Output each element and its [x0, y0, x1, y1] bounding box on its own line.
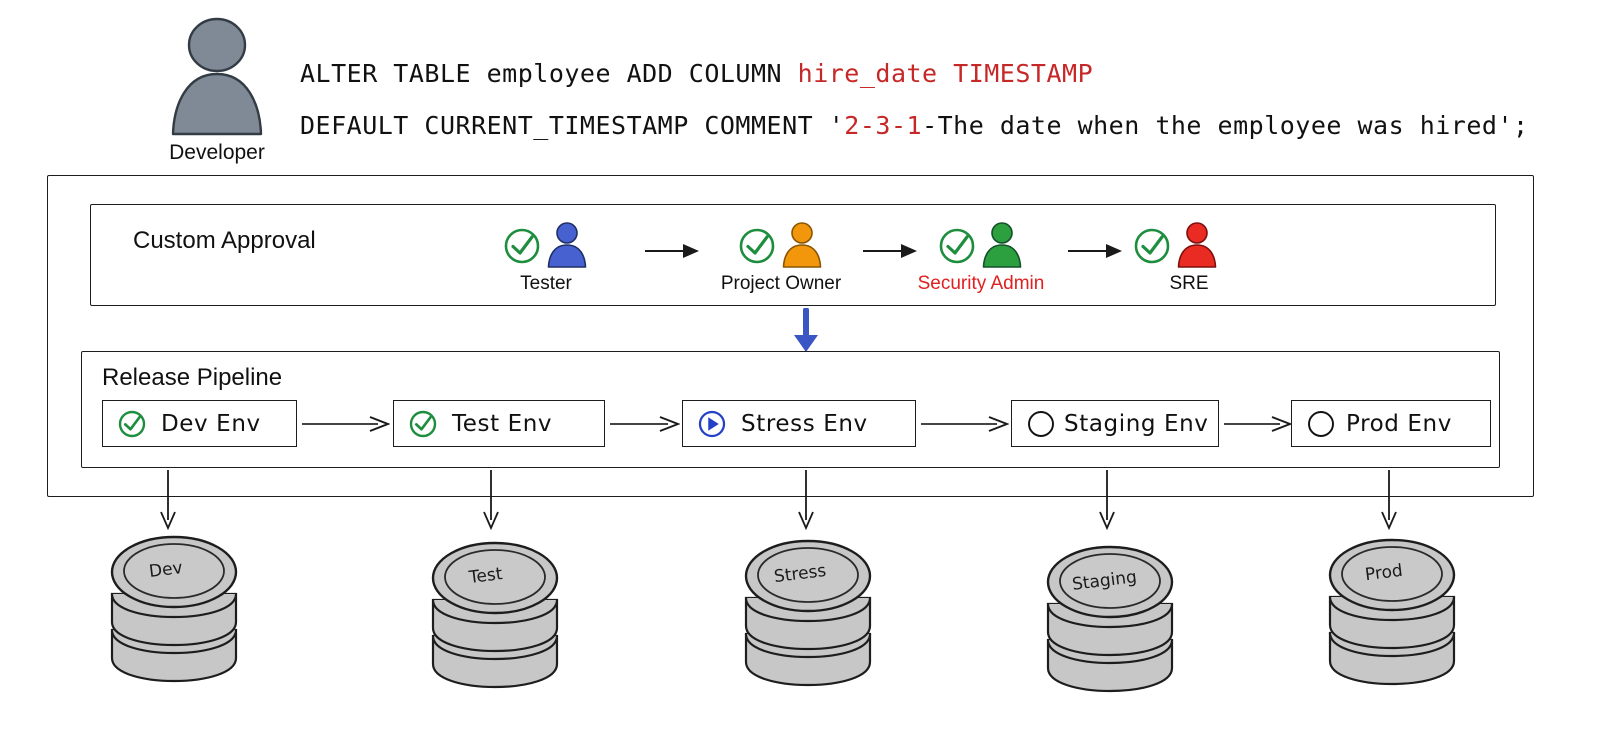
database-cylinder-icon	[1322, 533, 1462, 688]
release-pipeline-panel: Release Pipeline Dev Env Test Env	[81, 351, 1500, 468]
approver-label: Tester	[461, 273, 631, 295]
approver-label: SRE	[1117, 273, 1261, 295]
arrow-down-icon	[786, 308, 826, 354]
database-cylinder-icon	[104, 530, 244, 685]
sql-statement: ALTER TABLE employee ADD COLUMN hire_dat…	[300, 48, 1480, 152]
sql-line-1-text: ALTER TABLE employee ADD COLUMN	[300, 59, 798, 88]
stage-dev-env[interactable]: Dev Env	[102, 400, 297, 447]
sql-line-2: DEFAULT CURRENT_TIMESTAMP COMMENT '2-3-1…	[300, 100, 1480, 152]
database-cylinder-icon	[425, 536, 565, 691]
approver-label: Security Admin	[896, 273, 1066, 295]
empty-circle-icon	[1026, 409, 1056, 439]
play-circle-icon	[697, 409, 727, 439]
developer-actor: Developer	[152, 14, 282, 165]
arrow-right-icon	[608, 416, 680, 432]
database-staging[interactable]: Staging	[1040, 540, 1190, 700]
custom-approval-panel: Custom Approval Tester	[90, 204, 1496, 306]
arrow-right-icon	[300, 416, 390, 432]
custom-approval-title: Custom Approval	[133, 227, 316, 255]
diagram-canvas: Developer ALTER TABLE employee ADD COLUM…	[0, 0, 1600, 734]
workflow-frame: Custom Approval Tester	[47, 175, 1534, 497]
developer-label: Developer	[152, 141, 282, 165]
stage-label: Staging Env	[1064, 411, 1209, 437]
approver-label: Project Owner	[696, 273, 866, 295]
person-icon	[979, 222, 1025, 270]
database-prod[interactable]: Prod	[1322, 533, 1472, 693]
arrow-right-icon	[1222, 416, 1292, 432]
stage-label: Dev Env	[161, 411, 261, 437]
empty-circle-icon	[1306, 409, 1336, 439]
approver-security-admin[interactable]: Security Admin	[896, 221, 1066, 295]
check-circle-icon	[937, 226, 977, 266]
arrow-right-icon	[643, 241, 703, 261]
check-circle-icon	[737, 226, 777, 266]
person-icon	[779, 222, 825, 270]
approver-project-owner[interactable]: Project Owner	[696, 221, 866, 295]
database-cylinder-icon	[1040, 540, 1180, 695]
stage-label: Stress Env	[741, 411, 868, 437]
sql-line-2-text: DEFAULT CURRENT_TIMESTAMP COMMENT '	[300, 111, 844, 140]
stage-label: Prod Env	[1346, 411, 1452, 437]
stage-test-env[interactable]: Test Env	[393, 400, 605, 447]
check-circle-icon	[117, 409, 147, 439]
arrow-down-icon	[1380, 470, 1398, 530]
person-icon	[544, 222, 590, 270]
database-label: Dev	[148, 558, 184, 582]
approver-tester[interactable]: Tester	[461, 221, 631, 295]
sql-line-2-highlight: 2-3-1	[844, 111, 922, 140]
sql-line-1-highlight: hire_date TIMESTAMP	[798, 59, 1093, 88]
stage-staging-env[interactable]: Staging Env	[1011, 400, 1219, 447]
stage-stress-env[interactable]: Stress Env	[682, 400, 916, 447]
database-dev[interactable]: Dev	[104, 530, 254, 690]
sql-line-1: ALTER TABLE employee ADD COLUMN hire_dat…	[300, 48, 1480, 100]
database-stress[interactable]: Stress	[738, 534, 888, 694]
check-circle-icon	[1132, 226, 1172, 266]
arrow-right-icon	[919, 416, 1009, 432]
check-circle-icon	[502, 226, 542, 266]
release-pipeline-title: Release Pipeline	[102, 364, 282, 392]
sql-line-2-suffix: -The date when the employee was hired';	[922, 111, 1529, 140]
stage-prod-env[interactable]: Prod Env	[1291, 400, 1491, 447]
arrow-down-icon	[482, 470, 500, 530]
database-label: Test	[468, 564, 504, 588]
stage-label: Test Env	[452, 411, 552, 437]
check-circle-icon	[408, 409, 438, 439]
person-icon	[162, 14, 272, 139]
approver-sre[interactable]: SRE	[1091, 221, 1261, 295]
database-cylinder-icon	[738, 534, 878, 689]
arrow-down-icon	[797, 470, 815, 530]
person-icon	[1174, 222, 1220, 270]
arrow-down-icon	[1098, 470, 1116, 530]
database-test[interactable]: Test	[425, 536, 575, 696]
arrow-down-icon	[159, 470, 177, 530]
